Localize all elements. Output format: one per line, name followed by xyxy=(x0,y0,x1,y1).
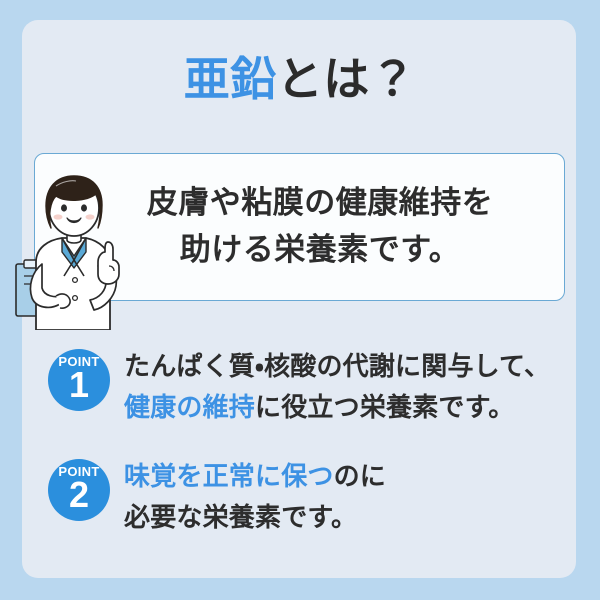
point-badge-number-1: 1 xyxy=(48,367,110,403)
point-item-2: POINT 2 味覚を正常に保つのに 必要な栄養素です。 xyxy=(48,455,568,538)
point-text-1: たんぱく質・核酸の代謝に関与して、 健康の維持に役立つ栄養素です。 xyxy=(124,345,550,428)
point-2-highlight: 味覚を正常に保つ xyxy=(124,461,334,491)
callout-line-2: 助ける栄養素です。 xyxy=(95,227,545,274)
callout-text: 皮膚や粘膜の健康維持を 助ける栄養素です。 xyxy=(95,180,545,273)
point-badge-number-2: 2 xyxy=(48,477,110,513)
page-title-highlight: 亜鉛 xyxy=(184,53,277,105)
point-badge-2: POINT 2 xyxy=(48,459,110,521)
point-item-1: POINT 1 たんぱく質・核酸の代謝に関与して、 健康の維持に役立つ栄養素です… xyxy=(48,345,568,428)
page-title: 亜鉛とは？ xyxy=(0,56,600,102)
point-1-line-1: たんぱく質・核酸の代謝に関与して、 xyxy=(124,346,550,387)
point-1-line-2: 健康の維持に役立つ栄養素です。 xyxy=(124,387,550,428)
point-badge-1: POINT 1 xyxy=(48,349,110,411)
point-2-line-1-rest: のに xyxy=(334,461,386,491)
page-title-rest: とは？ xyxy=(277,53,417,105)
point-1-line-2-rest: に役立つ栄養素です。 xyxy=(255,392,514,422)
point-2-line-1: 味覚を正常に保つのに xyxy=(124,456,386,497)
infographic-canvas: 亜鉛とは？ 皮膚や粘膜の健康維持を 助ける栄養素です。 xyxy=(0,0,600,600)
callout-line-1: 皮膚や粘膜の健康維持を xyxy=(95,180,545,227)
point-text-2: 味覚を正常に保つのに 必要な栄養素です。 xyxy=(124,455,386,538)
point-2-line-2: 必要な栄養素です。 xyxy=(124,497,386,538)
female-doctor-illustration xyxy=(12,168,136,330)
point-1-highlight: 健康の維持 xyxy=(124,392,255,422)
